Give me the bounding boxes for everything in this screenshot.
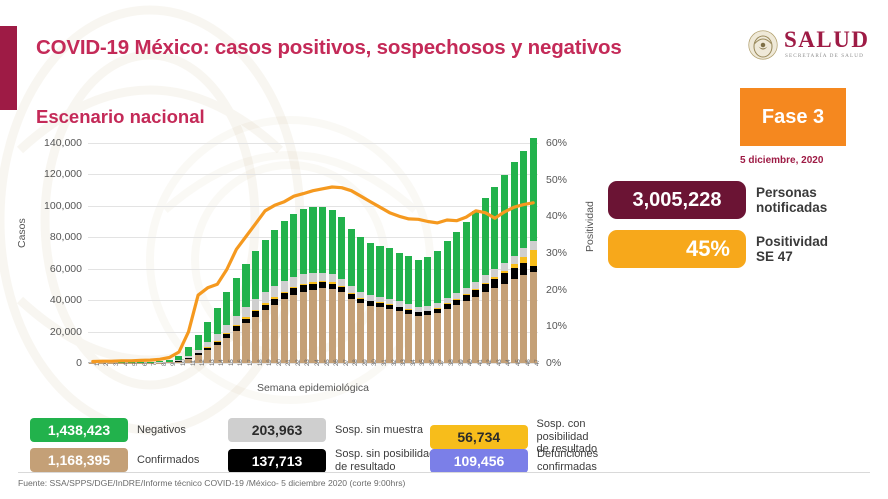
bar-segment: [367, 306, 374, 363]
bar-segment: [319, 207, 326, 273]
bar-column: [262, 240, 269, 364]
bar-segment: [271, 305, 278, 363]
bar-segment: [271, 286, 278, 297]
y2-axis-tick-label: 30%: [546, 247, 586, 259]
legend-label: Negativos: [137, 424, 186, 437]
bar-segment: [262, 240, 269, 293]
x-axis-tick-label: 2: [104, 363, 110, 366]
kpi-label-line2: notificadas: [756, 200, 827, 215]
bar-segment: [520, 263, 527, 275]
bar-segment: [338, 217, 345, 278]
bar-segment: [300, 209, 307, 274]
kpi-label: Personas notificadas: [756, 185, 827, 215]
bar-segment: [338, 292, 345, 363]
bar-segment: [319, 273, 326, 281]
x-axis-tick-label: 35: [420, 359, 426, 366]
x-axis-tick-label: 15: [229, 359, 235, 366]
x-axis-tick-label: 36: [430, 359, 436, 366]
bar-segment: [348, 299, 355, 363]
bar-segment: [511, 256, 518, 265]
page-subtitle: Escenario nacional: [36, 106, 205, 128]
bar-column: [348, 229, 355, 363]
x-axis-tick-label: 31: [382, 359, 388, 366]
page-title: COVID-19 México: casos positivos, sospec…: [36, 36, 676, 60]
salud-logo: SALUD SECRETARÍA DE SALUD: [748, 28, 878, 72]
x-axis-tick-label: 40: [468, 359, 474, 366]
bar-segment: [472, 211, 479, 283]
legend-label-line1: Confirmados: [137, 454, 199, 467]
bar-segment: [453, 232, 460, 293]
y2-axis-tick-label: 0%: [546, 357, 586, 369]
bar-segment: [511, 268, 518, 279]
bar-segment: [376, 246, 383, 297]
x-axis-tick-label: 43: [497, 359, 503, 366]
bar-column: [491, 187, 498, 363]
bar-segment: [482, 198, 489, 275]
x-axis-tick-label: 42: [487, 359, 493, 366]
bar-segment: [290, 277, 297, 287]
x-axis-tick-label: 25: [325, 359, 331, 366]
bar-column: [233, 278, 240, 363]
y2-axis-tick-label: 20%: [546, 284, 586, 296]
x-axis-tick-label: 44: [506, 359, 512, 366]
y-axis-tick-label: 80,000: [4, 231, 82, 243]
bar-segment: [386, 248, 393, 298]
report-date: 5 diciembre, 2020: [740, 155, 823, 166]
mexico-coat-of-arms-icon: [748, 30, 778, 60]
bar-segment: [434, 313, 441, 363]
bar-column: [319, 207, 326, 363]
legend-label: Confirmados: [137, 454, 199, 467]
y-axis-tick-label: 40,000: [4, 294, 82, 306]
bar-column: [329, 210, 336, 363]
bar-column: [444, 241, 451, 363]
kpi-label-line1: Personas: [756, 185, 827, 200]
legend-value-box: 1,168,395: [30, 448, 128, 472]
bar-segment: [329, 274, 336, 282]
phase-badge: Fase 3: [740, 88, 846, 146]
bar-segment: [329, 289, 336, 363]
x-axis-tick-label: 16: [238, 359, 244, 366]
x-axis-tick-label: 12: [200, 359, 206, 366]
x-axis-tick-label: 3: [114, 363, 120, 366]
x-axis-tick-label: 9: [171, 363, 177, 366]
legend-value-box: 1,438,423: [30, 418, 128, 442]
kpi-personas-notificadas: 3,005,228 Personas notificadas: [608, 181, 827, 219]
bar-column: [281, 221, 288, 364]
bar-column: [463, 222, 470, 363]
bar-segment: [415, 260, 422, 307]
bar-column: [271, 230, 278, 363]
bar-segment: [434, 251, 441, 303]
bar-segment: [309, 207, 316, 273]
bar-segment: [233, 316, 240, 325]
bar-segment: [319, 288, 326, 363]
bar-column: [511, 162, 518, 363]
bar-segment: [309, 290, 316, 363]
bar-segment: [472, 297, 479, 363]
legend-value-box: 56,734: [430, 425, 528, 449]
legend-label-line1: Sosp. con posibilidad: [537, 418, 640, 443]
bar-segment: [252, 251, 259, 299]
decorative-left-bar: [0, 26, 17, 110]
logo-subtitle: SECRETARÍA DE SALUD: [785, 53, 864, 59]
legend-value-box: 203,963: [228, 418, 326, 442]
bar-segment: [405, 256, 412, 304]
bar-segment: [463, 301, 470, 363]
legend-item: 109,456Defuncionesconfirmadas: [430, 448, 598, 473]
legend-label: Sosp. sin muestra: [335, 424, 423, 437]
x-axis-tick-label: 19: [267, 359, 273, 366]
bar-column: [338, 217, 345, 363]
bar-segment: [396, 311, 403, 363]
bar-column: [415, 260, 422, 363]
bar-segment: [300, 292, 307, 364]
footer-divider: [18, 472, 870, 473]
epidemic-curve-chart: Casos Positividad Semana epidemiológica …: [0, 130, 600, 395]
bar-segment: [482, 292, 489, 363]
bar-column: [204, 322, 211, 363]
x-axis-tick-label: 45: [516, 359, 522, 366]
x-axis-tick-label: 37: [439, 359, 445, 366]
x-axis-tick-label: 18: [258, 359, 264, 366]
legend-item: 137,713Sosp. sin posibilidadde resultado: [228, 448, 435, 473]
kpi-value: 45%: [608, 230, 746, 268]
bar-column: [357, 237, 364, 363]
x-axis-tick-label: 46: [526, 359, 532, 366]
bar-segment: [424, 315, 431, 363]
legend-value-box: 109,456: [430, 449, 528, 473]
kpi-value: 3,005,228: [608, 181, 746, 219]
bar-segment: [348, 286, 355, 293]
y-axis-tick-label: 20,000: [4, 326, 82, 338]
y2-axis-title: Positividad: [584, 201, 596, 252]
bar-segment: [530, 250, 537, 267]
bar-column: [252, 251, 259, 363]
x-axis-tick-label: 5: [133, 363, 139, 366]
bar-segment: [338, 279, 345, 286]
bar-column: [309, 207, 316, 363]
x-axis-tick-label: 29: [363, 359, 369, 366]
x-axis-tick-label: 39: [459, 359, 465, 366]
bar-segment: [491, 269, 498, 277]
bar-segment: [223, 292, 230, 324]
y2-axis-tick-label: 10%: [546, 320, 586, 332]
x-axis-tick-label: 10: [181, 359, 187, 366]
bar-column: [482, 198, 489, 363]
x-axis-tick-label: 28: [353, 359, 359, 366]
x-axis-tick-label: 8: [162, 363, 168, 366]
x-axis-title: Semana epidemiológica: [88, 382, 538, 394]
bar-column: [367, 243, 374, 363]
legend-label-line1: Sosp. sin muestra: [335, 424, 423, 437]
bar-column: [434, 251, 441, 363]
bar-segment: [491, 288, 498, 363]
bar-segment: [252, 299, 259, 310]
bar-segment: [329, 210, 336, 274]
bar-segment: [348, 229, 355, 286]
bar-segment: [501, 273, 508, 283]
bar-segment: [214, 308, 221, 334]
bar-segment: [520, 248, 527, 257]
x-axis-tick-label: 20: [277, 359, 283, 366]
x-axis-tick-label: 32: [392, 359, 398, 366]
y-axis-tick-label: 120,000: [4, 168, 82, 180]
legend-item: 203,963Sosp. sin muestra: [228, 418, 423, 442]
bar-segment: [281, 281, 288, 292]
bar-segment: [530, 241, 537, 250]
bar-column: [501, 175, 508, 363]
y-axis-tick-label: 100,000: [4, 200, 82, 212]
bar-segment: [444, 309, 451, 363]
bar-column: [242, 264, 249, 363]
bar-segment: [290, 295, 297, 363]
x-axis-tick-label: 21: [286, 359, 292, 366]
bar-column: [530, 138, 537, 363]
logo-wordmark: SALUD: [784, 27, 869, 53]
bar-segment: [242, 307, 249, 317]
kpi-label-line2: SE 47: [756, 249, 828, 264]
x-axis-tick-label: 24: [315, 359, 321, 366]
bar-segment: [482, 284, 489, 292]
bar-segment: [463, 222, 470, 288]
bar-column: [290, 214, 297, 363]
bar-segment: [453, 305, 460, 363]
x-axis-tick-label: 38: [449, 359, 455, 366]
bar-segment: [501, 263, 508, 271]
bar-segment: [520, 151, 527, 248]
legend-item: 1,168,395Confirmados: [30, 448, 199, 472]
plot-area: [88, 143, 538, 363]
bar-segment: [281, 299, 288, 363]
bar-segment: [367, 243, 374, 295]
x-axis-tick-label: 14: [219, 359, 225, 366]
legend-label: Sosp. sin posibilidadde resultado: [335, 448, 435, 473]
bar-segment: [472, 282, 479, 289]
x-axis-tick-label: 13: [210, 359, 216, 366]
bar-column: [376, 246, 383, 363]
bar-segment: [204, 322, 211, 342]
bar-segment: [262, 292, 269, 303]
source-footnote: Fuente: SSA/SPPS/DGE/InDRE/Informe técni…: [18, 478, 405, 488]
legend-label-line1: Sosp. sin posibilidad: [335, 448, 435, 461]
x-axis-tick-label: 11: [191, 360, 197, 366]
bar-segment: [242, 264, 249, 307]
bar-column: [386, 248, 393, 363]
bar-segment: [300, 274, 307, 284]
bar-segment: [185, 347, 192, 356]
bar-segment: [252, 317, 259, 363]
bar-segment: [530, 138, 537, 240]
y2-axis-tick-label: 60%: [546, 137, 586, 149]
y2-axis-tick-label: 50%: [546, 174, 586, 186]
bar-segment: [309, 273, 316, 282]
kpi-positividad: 45% Positividad SE 47: [608, 230, 828, 268]
bar-segment: [262, 310, 269, 363]
legend-label: Defuncionesconfirmadas: [537, 448, 598, 473]
bar-column: [453, 232, 460, 363]
bar-column: [214, 308, 221, 363]
x-axis-tick-label: 34: [411, 359, 417, 366]
bar-segment: [501, 175, 508, 263]
kpi-label: Positividad SE 47: [756, 234, 828, 264]
x-axis-tick-label: 6: [143, 363, 149, 366]
bar-segment: [376, 307, 383, 363]
bar-segment: [444, 241, 451, 298]
bar-column: [520, 151, 527, 363]
bar-segment: [530, 272, 537, 363]
gridline: [88, 143, 538, 144]
bar-segment: [396, 253, 403, 302]
x-axis-tick-label: 7: [152, 363, 158, 366]
x-axis-tick-label: 41: [478, 359, 484, 366]
bar-segment: [491, 187, 498, 270]
bar-segment: [195, 335, 202, 350]
bar-column: [300, 209, 307, 363]
bar-column: [223, 292, 230, 363]
x-axis-tick-label: 47: [535, 359, 541, 366]
bar-segment: [415, 316, 422, 363]
bar-segment: [520, 275, 527, 363]
bar-segment: [281, 221, 288, 282]
legend-value-box: 137,713: [228, 449, 326, 473]
bar-segment: [233, 278, 240, 316]
x-axis-tick-label: 26: [334, 359, 340, 366]
legend-label-line1: Defunciones: [537, 448, 598, 461]
kpi-label-line1: Positividad: [756, 234, 828, 249]
bar-segment: [214, 334, 221, 341]
y-axis-tick-label: 0: [4, 357, 82, 369]
bar-segment: [242, 323, 249, 363]
bar-segment: [424, 257, 431, 306]
bar-column: [424, 257, 431, 363]
gridline: [88, 174, 538, 175]
bar-segment: [405, 314, 412, 364]
bar-segment: [271, 230, 278, 287]
bar-column: [396, 253, 403, 363]
bar-segment: [491, 279, 498, 288]
y-axis-tick-label: 60,000: [4, 263, 82, 275]
y2-axis-tick-label: 40%: [546, 210, 586, 222]
bar-segment: [511, 279, 518, 363]
bar-segment: [386, 309, 393, 363]
x-axis-tick-label: 30: [372, 359, 378, 366]
bar-column: [472, 211, 479, 363]
x-axis-tick-label: 33: [401, 359, 407, 366]
bar-segment: [501, 284, 508, 363]
bar-segment: [482, 275, 489, 282]
bar-segment: [472, 290, 479, 297]
bar-segment: [357, 237, 364, 291]
bar-segment: [511, 162, 518, 256]
x-axis-tick-label: 22: [296, 359, 302, 366]
x-axis-tick-label: 23: [305, 359, 311, 366]
x-axis-tick-label: 27: [344, 359, 350, 366]
legend-item: 1,438,423Negativos: [30, 418, 186, 442]
bar-segment: [290, 214, 297, 277]
bar-segment: [357, 303, 364, 363]
y-axis-tick-label: 140,000: [4, 137, 82, 149]
legend-label-line1: Negativos: [137, 424, 186, 437]
bar-column: [405, 256, 412, 363]
x-axis-tick-label: 4: [124, 363, 130, 366]
x-axis-tick-label: 17: [248, 359, 254, 366]
x-axis-tick-label: 1: [95, 363, 101, 366]
bar-segment: [223, 325, 230, 333]
